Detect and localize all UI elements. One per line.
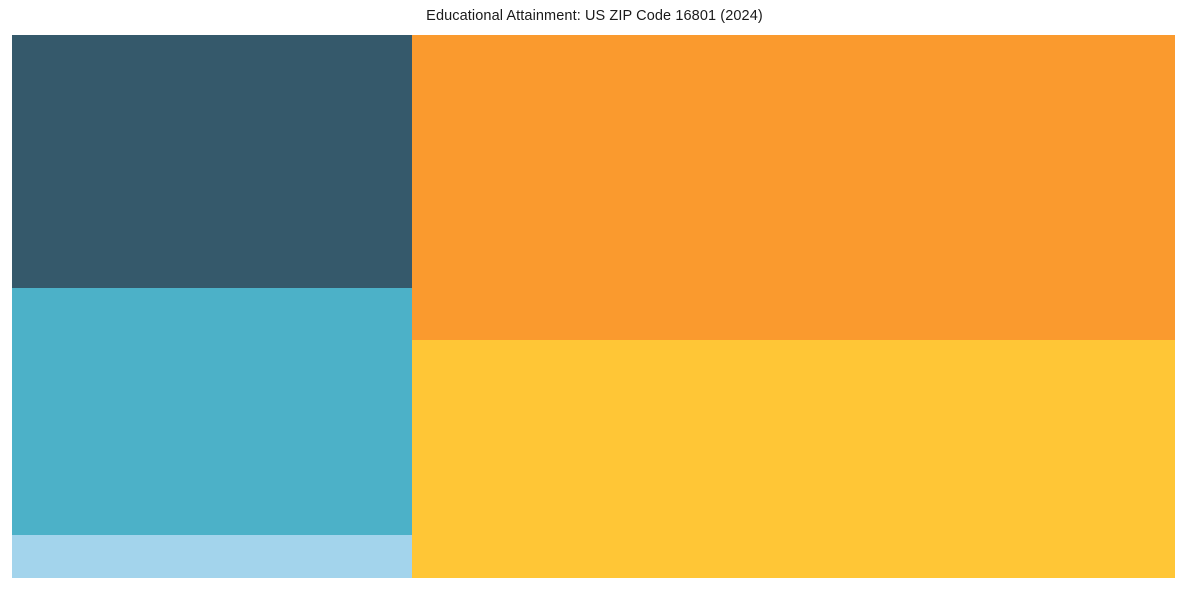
treemap-column-right: Graduate or Professional Degree High Sch…	[412, 35, 1175, 578]
treemap-figure: Educational Attainment: US ZIP Code 1680…	[0, 0, 1189, 590]
treemap-tile-less-than-high-school[interactable]: Less Than High School	[12, 535, 412, 578]
treemap-plot-area: Bachelor's Degree Some College or Associ…	[12, 35, 1175, 578]
treemap-tile-bachelors-degree[interactable]: Bachelor's Degree	[12, 35, 412, 288]
treemap-tile-high-school-graduate[interactable]: High School Graduate	[412, 340, 1175, 578]
treemap-tile-some-college[interactable]: Some College or Associate's Degree	[12, 288, 412, 535]
treemap-tile-graduate-degree[interactable]: Graduate or Professional Degree	[412, 35, 1175, 340]
treemap-column-left: Bachelor's Degree Some College or Associ…	[12, 35, 412, 578]
chart-title: Educational Attainment: US ZIP Code 1680…	[0, 8, 1189, 25]
